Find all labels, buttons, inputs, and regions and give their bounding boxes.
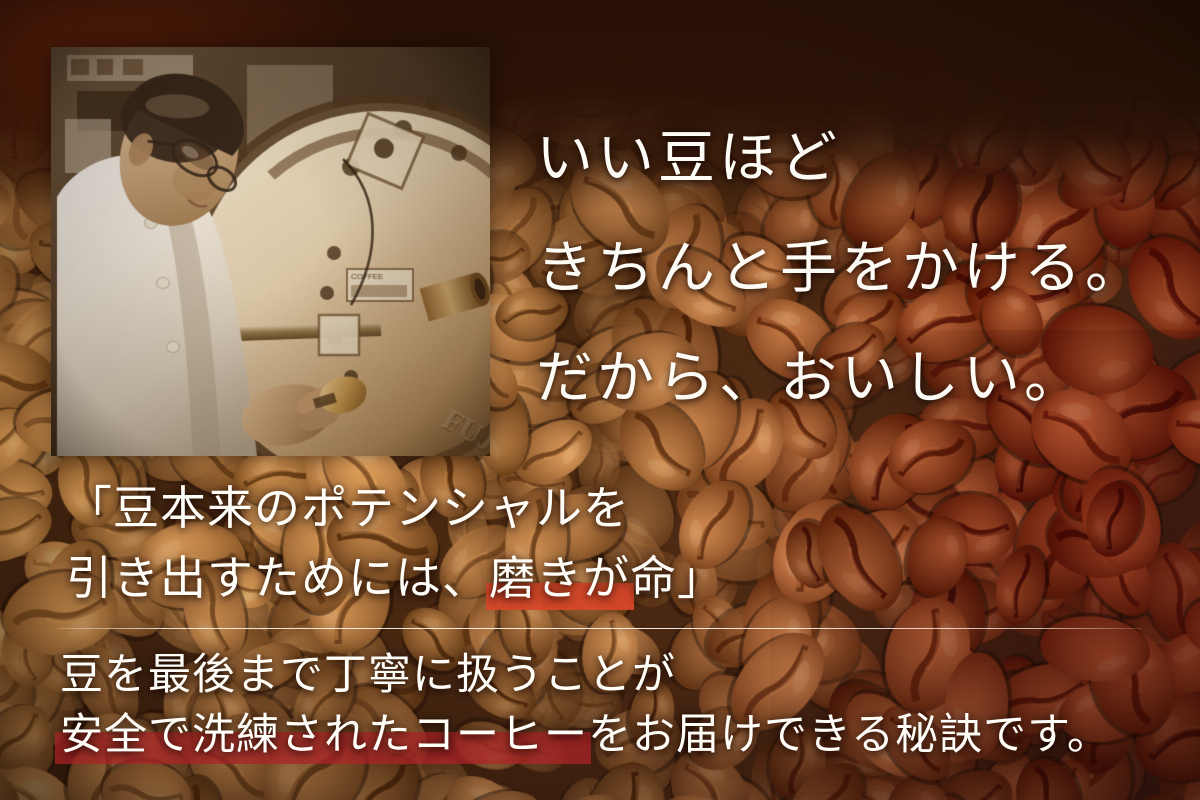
bottom-highlight-text: 安全で洗練されたコーヒー (60, 706, 588, 766)
headline-line-1: いい豆ほど (536, 104, 1176, 214)
roaster-portrait-image (51, 47, 490, 456)
roaster-portrait-photo (51, 47, 490, 456)
quote-open-bracket: 「 (66, 483, 113, 534)
quote-line-1: 「豆本来のポテンシャルを (66, 474, 826, 544)
quote-line-2-before: 引き出すためには、 (66, 553, 489, 604)
horizontal-divider (57, 628, 1142, 629)
headline-block: いい豆ほど きちんと手をかける。 だから、おいしい。 (536, 104, 1176, 434)
bottom-text-block: 豆を最後まで丁寧に扱うことが 安全で洗練されたコーヒーをお届けできる秘訣です。 (60, 646, 1180, 766)
bottom-line-2: 安全で洗練されたコーヒーをお届けできる秘訣です。 (60, 706, 1180, 766)
hero-banner: いい豆ほど きちんと手をかける。 だから、おいしい。 「豆本来のポテンシャルを … (0, 0, 1200, 800)
bottom-line-2-after: をお届けできる秘訣です。 (588, 712, 1111, 759)
headline-line-3: だから、おいしい。 (536, 324, 1176, 434)
quote-line-1-text: 豆本来のポテンシャルを (113, 483, 630, 534)
quote-line-2-after: 命 (630, 553, 677, 604)
quote-highlight-text: 磨きが (489, 544, 630, 614)
quote-line-2: 引き出すためには、磨きが命」 (66, 544, 826, 614)
headline-line-2: きちんと手をかける。 (536, 214, 1176, 324)
quote-close-bracket: 」 (677, 553, 724, 604)
quote-block: 「豆本来のポテンシャルを 引き出すためには、磨きが命」 (66, 474, 826, 614)
bottom-line-1: 豆を最後まで丁寧に扱うことが (60, 646, 1180, 706)
